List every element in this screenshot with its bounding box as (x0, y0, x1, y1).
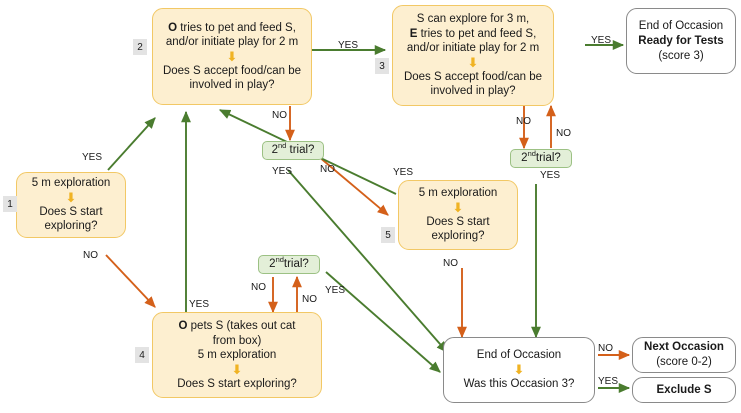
edge-label-3-no-back: NO (556, 128, 571, 139)
edge-label-2-no: NO (272, 110, 287, 121)
down-arrow-icon: ⬇ (514, 364, 525, 376)
exclude-line1: Exclude S (657, 383, 712, 398)
step1-line1: 5 m exploration (32, 176, 111, 191)
node-exclude-s[interactable]: Exclude S (632, 377, 736, 403)
step2-line4: involved in play? (189, 78, 274, 93)
step3-line2-rest: tries to pet and feed S, (417, 28, 536, 40)
node-second-trial-a[interactable]: 2nd trial? (262, 141, 324, 160)
step1-line2: Does S start (39, 205, 102, 220)
step2-line1-bold: O (168, 22, 177, 34)
node-end-of-occasion[interactable]: End of Occasion ⬇ Was this Occasion 3? (443, 337, 595, 403)
edge-label-5-no: NO (443, 258, 458, 269)
node-step-5[interactable]: 5 m exploration ⬇ Does S start exploring… (398, 180, 518, 250)
node-number-3: 3 (375, 58, 389, 74)
edge-label-trial-c-no-down: NO (251, 282, 266, 293)
step3-line2: E tries to pet and feed S, (410, 27, 537, 42)
node-step-3[interactable]: S can explore for 3 m, E tries to pet an… (392, 5, 554, 106)
edge-label-5-yes: YES (393, 167, 413, 178)
edge-label-trial-c-yes: YES (325, 285, 345, 296)
edge-label-trial-a-yes: YES (272, 166, 292, 177)
step5-line2: Does S start (426, 215, 489, 230)
step3-line4: Does S accept food/can be (404, 70, 542, 85)
trial-b-sup: nd (528, 149, 536, 158)
node-number-5: 5 (381, 227, 395, 243)
edge-label-trial-c-no-up: NO (302, 294, 317, 305)
node-ready-for-tests[interactable]: End of Occasion Ready for Tests (score 3… (626, 8, 736, 74)
node-number-1: 1 (3, 196, 17, 212)
edge-label-4-yes: YES (189, 299, 209, 310)
edge-label-trial-a-no: NO (320, 164, 335, 175)
down-arrow-icon: ⬇ (453, 202, 464, 214)
end-occasion-line1: End of Occasion (477, 348, 561, 363)
end-occasion-line2: Was this Occasion 3? (464, 377, 575, 392)
down-arrow-icon: ⬇ (66, 192, 77, 204)
step2-line2: and/or initiate play for 2 m (166, 35, 298, 50)
node-next-occasion[interactable]: Next Occasion (score 0-2) (632, 337, 736, 373)
trial-a-rest: trial? (286, 144, 314, 156)
node-step-1[interactable]: 5 m exploration ⬇ Does S start exploring… (16, 172, 126, 238)
ready-line1: End of Occasion (639, 19, 723, 34)
next-occasion-line2: (score 0-2) (656, 355, 712, 370)
step1-line3: exploring? (44, 219, 97, 234)
down-arrow-icon: ⬇ (468, 57, 479, 69)
node-number-4: 4 (135, 347, 149, 363)
trial-c-label: 2ndtrial? (269, 258, 309, 271)
step4-line3: 5 m exploration (198, 348, 277, 363)
edge-label-1-yes: YES (82, 152, 102, 163)
down-arrow-icon: ⬇ (232, 364, 243, 376)
node-step-2[interactable]: O tries to pet and feed S, and/or initia… (152, 8, 312, 105)
edge-label-trial-b-yes: YES (540, 170, 560, 181)
ready-line3: (score 3) (658, 49, 703, 64)
step2-line3: Does S accept food/can be (163, 64, 301, 79)
step2-line1: O tries to pet and feed S, (168, 21, 296, 36)
step3-line5: involved in play? (430, 84, 515, 99)
next-occasion-line1: Next Occasion (644, 340, 724, 355)
trial-c-sup: nd (276, 255, 284, 264)
node-number-2: 2 (133, 39, 147, 55)
step4-line1-rest: pets S (takes out cat (187, 320, 295, 332)
node-step-4[interactable]: O pets S (takes out cat from box) 5 m ex… (152, 312, 322, 398)
trial-b-rest: trial? (536, 152, 561, 164)
node-second-trial-b[interactable]: 2ndtrial? (510, 149, 572, 168)
step3-line1: S can explore for 3 m, (417, 12, 530, 27)
edge-label-3-no: NO (516, 116, 531, 127)
trial-c-rest: trial? (284, 258, 309, 270)
edge-label-3-yes: YES (591, 35, 611, 46)
node-second-trial-c[interactable]: 2ndtrial? (258, 255, 320, 274)
step5-line3: exploring? (431, 229, 484, 244)
step4-line2: from box) (213, 334, 262, 349)
step5-line1: 5 m exploration (419, 186, 498, 201)
step2-line1-rest: tries to pet and feed S, (177, 22, 296, 34)
ready-line2: Ready for Tests (638, 34, 723, 49)
edge-label-1-no: NO (83, 250, 98, 261)
edge-label-2-yes: YES (338, 40, 358, 51)
edge-label-end-yes: YES (598, 376, 618, 387)
trial-b-label: 2ndtrial? (521, 152, 561, 165)
step4-line4: Does S start exploring? (177, 377, 297, 392)
trial-a-label: 2nd trial? (272, 144, 315, 157)
step4-line1: O pets S (takes out cat (179, 319, 296, 334)
edge-label-end-no: NO (598, 343, 613, 354)
step3-line3: and/or initiate play for 2 m (407, 41, 539, 56)
down-arrow-icon: ⬇ (227, 51, 238, 63)
flowchart-canvas: 5 m exploration ⬇ Does S start exploring… (0, 0, 741, 413)
